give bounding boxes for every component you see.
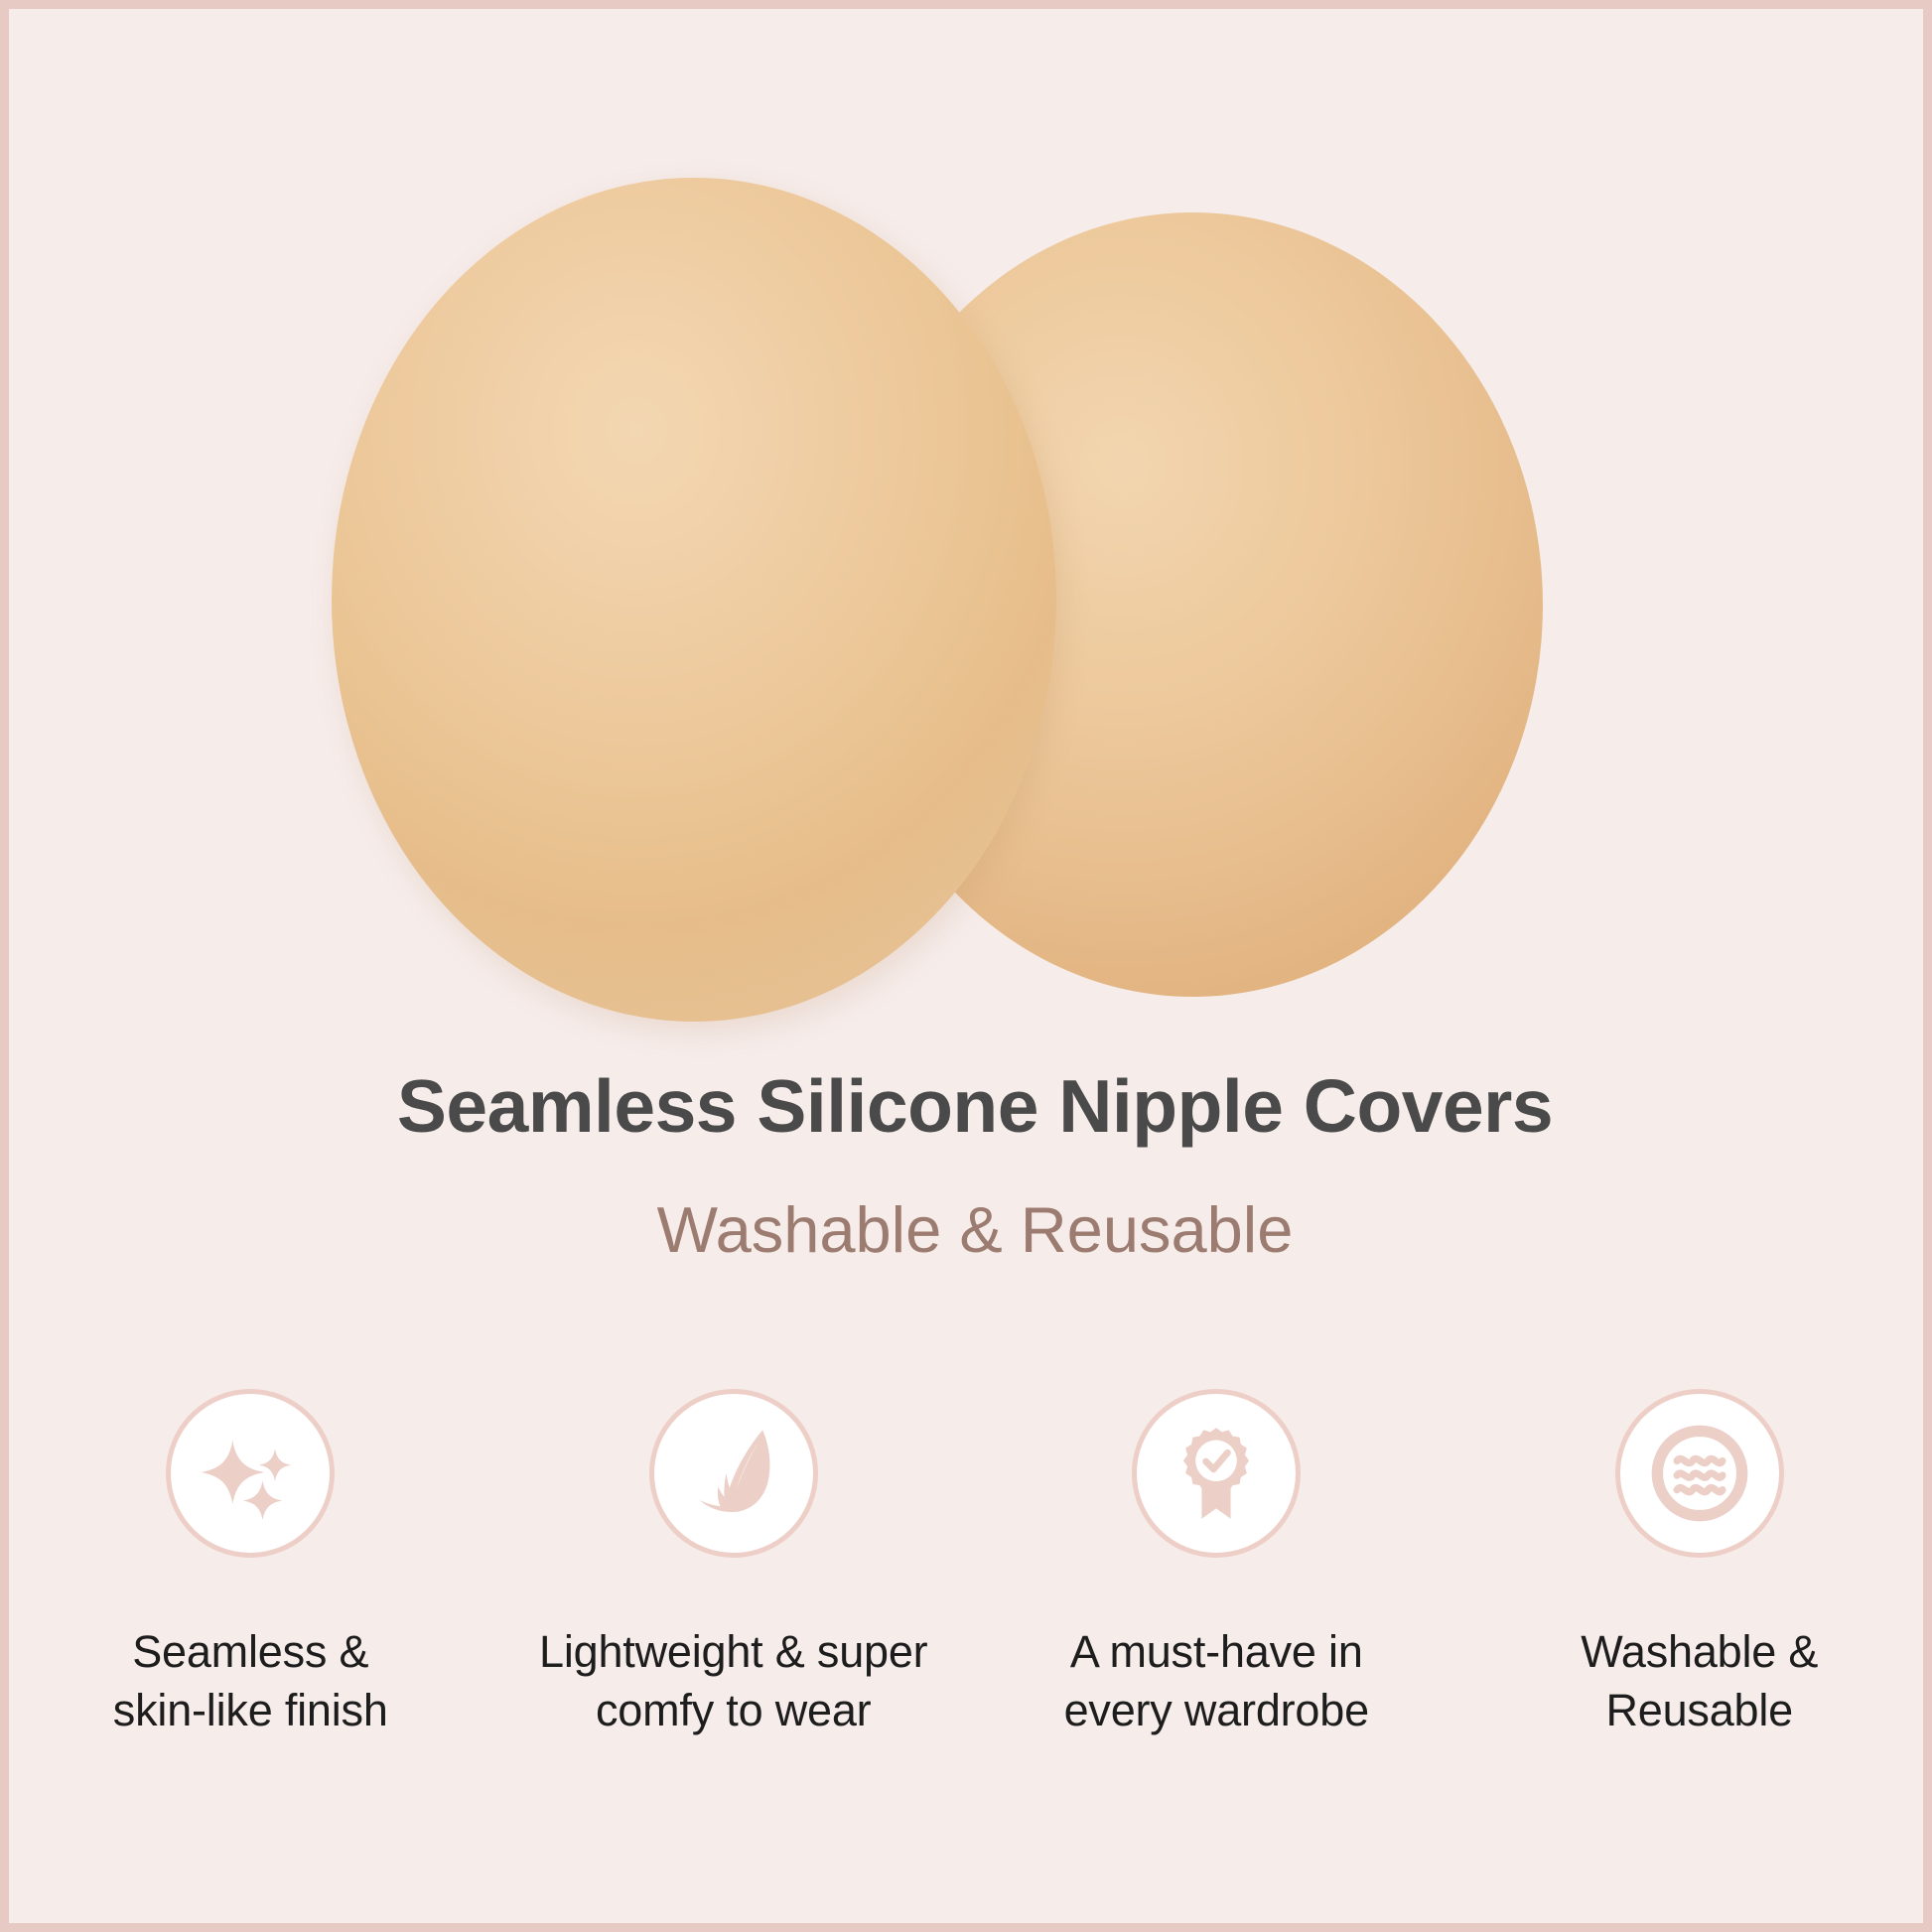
sparkles-icon bbox=[199, 1422, 302, 1525]
award-badge-icon bbox=[1165, 1422, 1268, 1525]
feature-item-seamless: Seamless & skin-like finish bbox=[9, 1389, 492, 1739]
silicone-cover-front bbox=[332, 178, 1056, 1022]
product-infographic: Seamless Silicone Nipple Covers Washable… bbox=[0, 0, 1932, 1932]
product-title: Seamless Silicone Nipple Covers bbox=[9, 1063, 1932, 1149]
feature-caption: A must-have in every wardrobe bbox=[1064, 1623, 1369, 1739]
feature-item-washable: Washable & Reusable bbox=[1458, 1389, 1932, 1739]
feature-row: Seamless & skin-like finish Lightweight … bbox=[9, 1389, 1932, 1739]
feature-item-must-have: A must-have in every wardrobe bbox=[975, 1389, 1458, 1739]
product-subtitle: Washable & Reusable bbox=[9, 1192, 1932, 1267]
feature-badge bbox=[1615, 1389, 1784, 1558]
feather-icon bbox=[682, 1422, 785, 1525]
feature-badge bbox=[166, 1389, 335, 1558]
feature-item-lightweight: Lightweight & super comfy to wear bbox=[492, 1389, 976, 1739]
feature-caption: Washable & Reusable bbox=[1581, 1623, 1818, 1739]
product-hero-image bbox=[9, 9, 1932, 1061]
feature-badge bbox=[649, 1389, 818, 1558]
washable-waves-icon bbox=[1648, 1422, 1751, 1525]
feature-caption: Seamless & skin-like finish bbox=[113, 1623, 388, 1739]
feature-caption: Lightweight & super comfy to wear bbox=[539, 1623, 927, 1739]
feature-badge bbox=[1132, 1389, 1301, 1558]
